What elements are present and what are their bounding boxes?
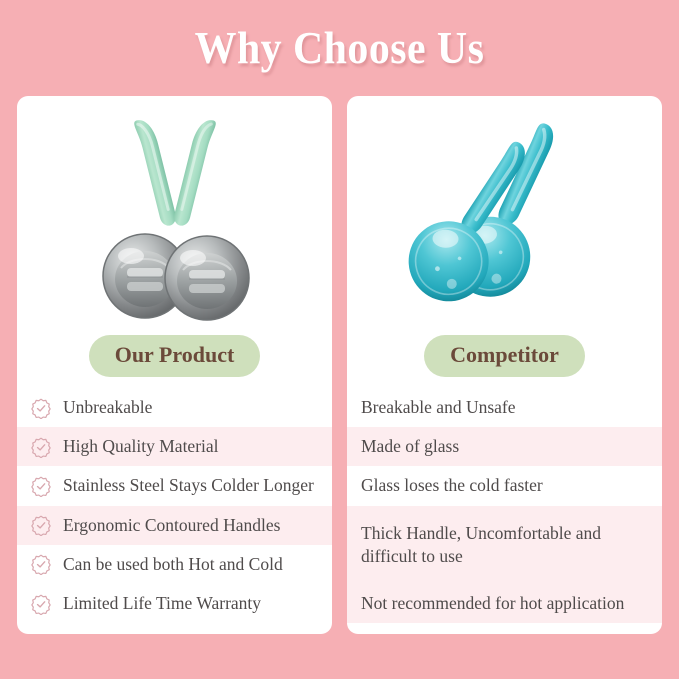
list-item-label: Ergonomic Contoured Handles <box>63 514 280 537</box>
our-product-feature-list: Unbreakable High Quality Material Stainl… <box>17 388 332 634</box>
list-item: Made of glass <box>347 427 662 466</box>
list-item-label: Stainless Steel Stays Colder Longer <box>63 474 314 497</box>
list-item-label: Limited Life Time Warranty <box>63 592 261 615</box>
list-item-label: Can be used both Hot and Cold <box>63 553 283 576</box>
list-item-label: Not recommended for hot application <box>361 592 624 615</box>
our-product-pill: Our Product <box>89 335 261 377</box>
our-product-pill-row: Our Product <box>17 324 332 388</box>
comparison-infographic: Why Choose Us <box>0 0 679 679</box>
page-title: Why Choose Us <box>24 22 655 74</box>
competitor-pill: Competitor <box>424 335 585 377</box>
list-item: Ergonomic Contoured Handles <box>17 506 332 545</box>
competitor-feature-list: Breakable and Unsafe Made of glass Glass… <box>347 388 662 634</box>
our-product-image <box>17 96 332 324</box>
teal-glass-ice-globes-pair-illustration <box>397 96 612 324</box>
list-item-label: Made of glass <box>361 435 459 458</box>
competitor-card: Competitor Breakable and Unsafe Made of … <box>347 96 662 634</box>
list-item: Limited Life Time Warranty <box>17 584 332 623</box>
list-item: Glass loses the cold faster <box>347 466 662 505</box>
comparison-columns: Our Product Unbreakable High Quality Mat… <box>17 96 662 634</box>
check-badge-icon <box>30 514 52 536</box>
list-item-label: Thick Handle, Uncomfortable and difficul… <box>361 522 643 568</box>
list-item: Not recommended for hot application <box>347 584 662 623</box>
check-badge-icon <box>30 436 52 458</box>
our-product-card: Our Product Unbreakable High Quality Mat… <box>17 96 332 634</box>
list-item: Thick Handle, Uncomfortable and difficul… <box>347 506 662 584</box>
list-item-label: Breakable and Unsafe <box>361 396 516 419</box>
check-badge-icon <box>30 553 52 575</box>
list-item-label: Glass loses the cold faster <box>361 474 543 497</box>
list-item-label: Unbreakable <box>63 396 152 419</box>
check-badge-icon <box>30 397 52 419</box>
list-item: Stainless Steel Stays Colder Longer <box>17 466 332 505</box>
list-item: Unbreakable <box>17 388 332 427</box>
list-item: Breakable and Unsafe <box>347 388 662 427</box>
check-badge-icon <box>30 593 52 615</box>
list-item: Can be used both Hot and Cold <box>17 545 332 584</box>
competitor-pill-row: Competitor <box>347 324 662 388</box>
list-item-label: High Quality Material <box>63 435 219 458</box>
check-badge-icon <box>30 475 52 497</box>
list-item: High Quality Material <box>17 427 332 466</box>
stainless-steel-ice-roller-pair-illustration <box>75 96 275 324</box>
competitor-product-image <box>347 96 662 324</box>
